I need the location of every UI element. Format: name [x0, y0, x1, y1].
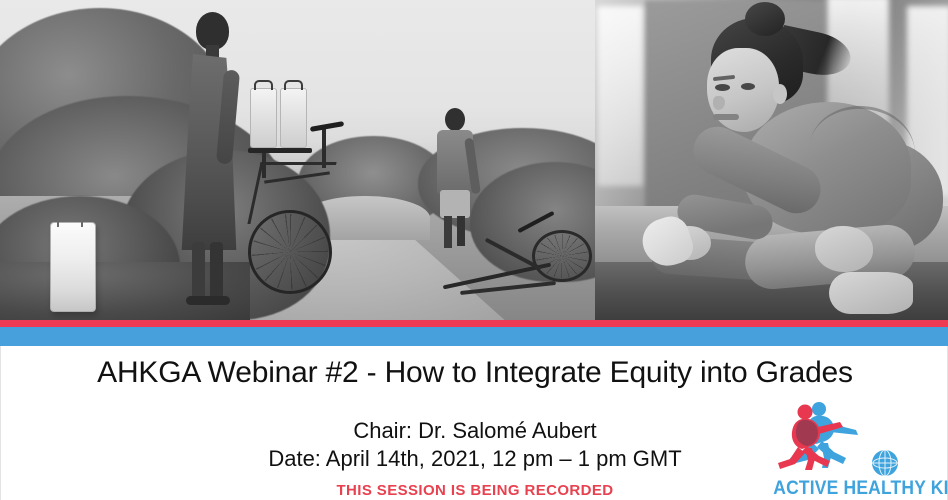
hair-bun	[745, 2, 785, 36]
jerrycans-on-bicycle	[250, 88, 310, 150]
globe-icon	[870, 448, 900, 478]
page-title: AHKGA Webinar #2 - How to Integrate Equi…	[1, 356, 948, 390]
red-divider-bar	[0, 320, 948, 327]
fallen-bicycle	[420, 228, 595, 314]
eye	[741, 83, 755, 90]
webinar-title-slide: AHKGA Webinar #2 - How to Integrate Equi…	[0, 0, 948, 500]
eye	[715, 84, 730, 91]
mouth	[713, 114, 739, 120]
active-healthy-kids-logo: ACTIVE HEALTHY KIDS	[766, 400, 948, 500]
blue-divider-bar	[0, 327, 948, 346]
hand	[815, 226, 873, 272]
rural-children-bicycles-photo	[0, 0, 595, 320]
jerrycan-on-ground	[50, 222, 96, 312]
running-figures-icon	[772, 400, 872, 472]
ear	[773, 84, 787, 104]
foot	[829, 272, 913, 314]
young-woman-figure	[633, 4, 948, 320]
logo-text: ACTIVE HEALTHY KIDS	[773, 478, 940, 500]
girl-standing-figure	[172, 12, 248, 304]
photo-band	[0, 0, 948, 320]
boy-walking-figure	[432, 108, 476, 248]
girl-stretching-yoga-photo	[595, 0, 948, 320]
